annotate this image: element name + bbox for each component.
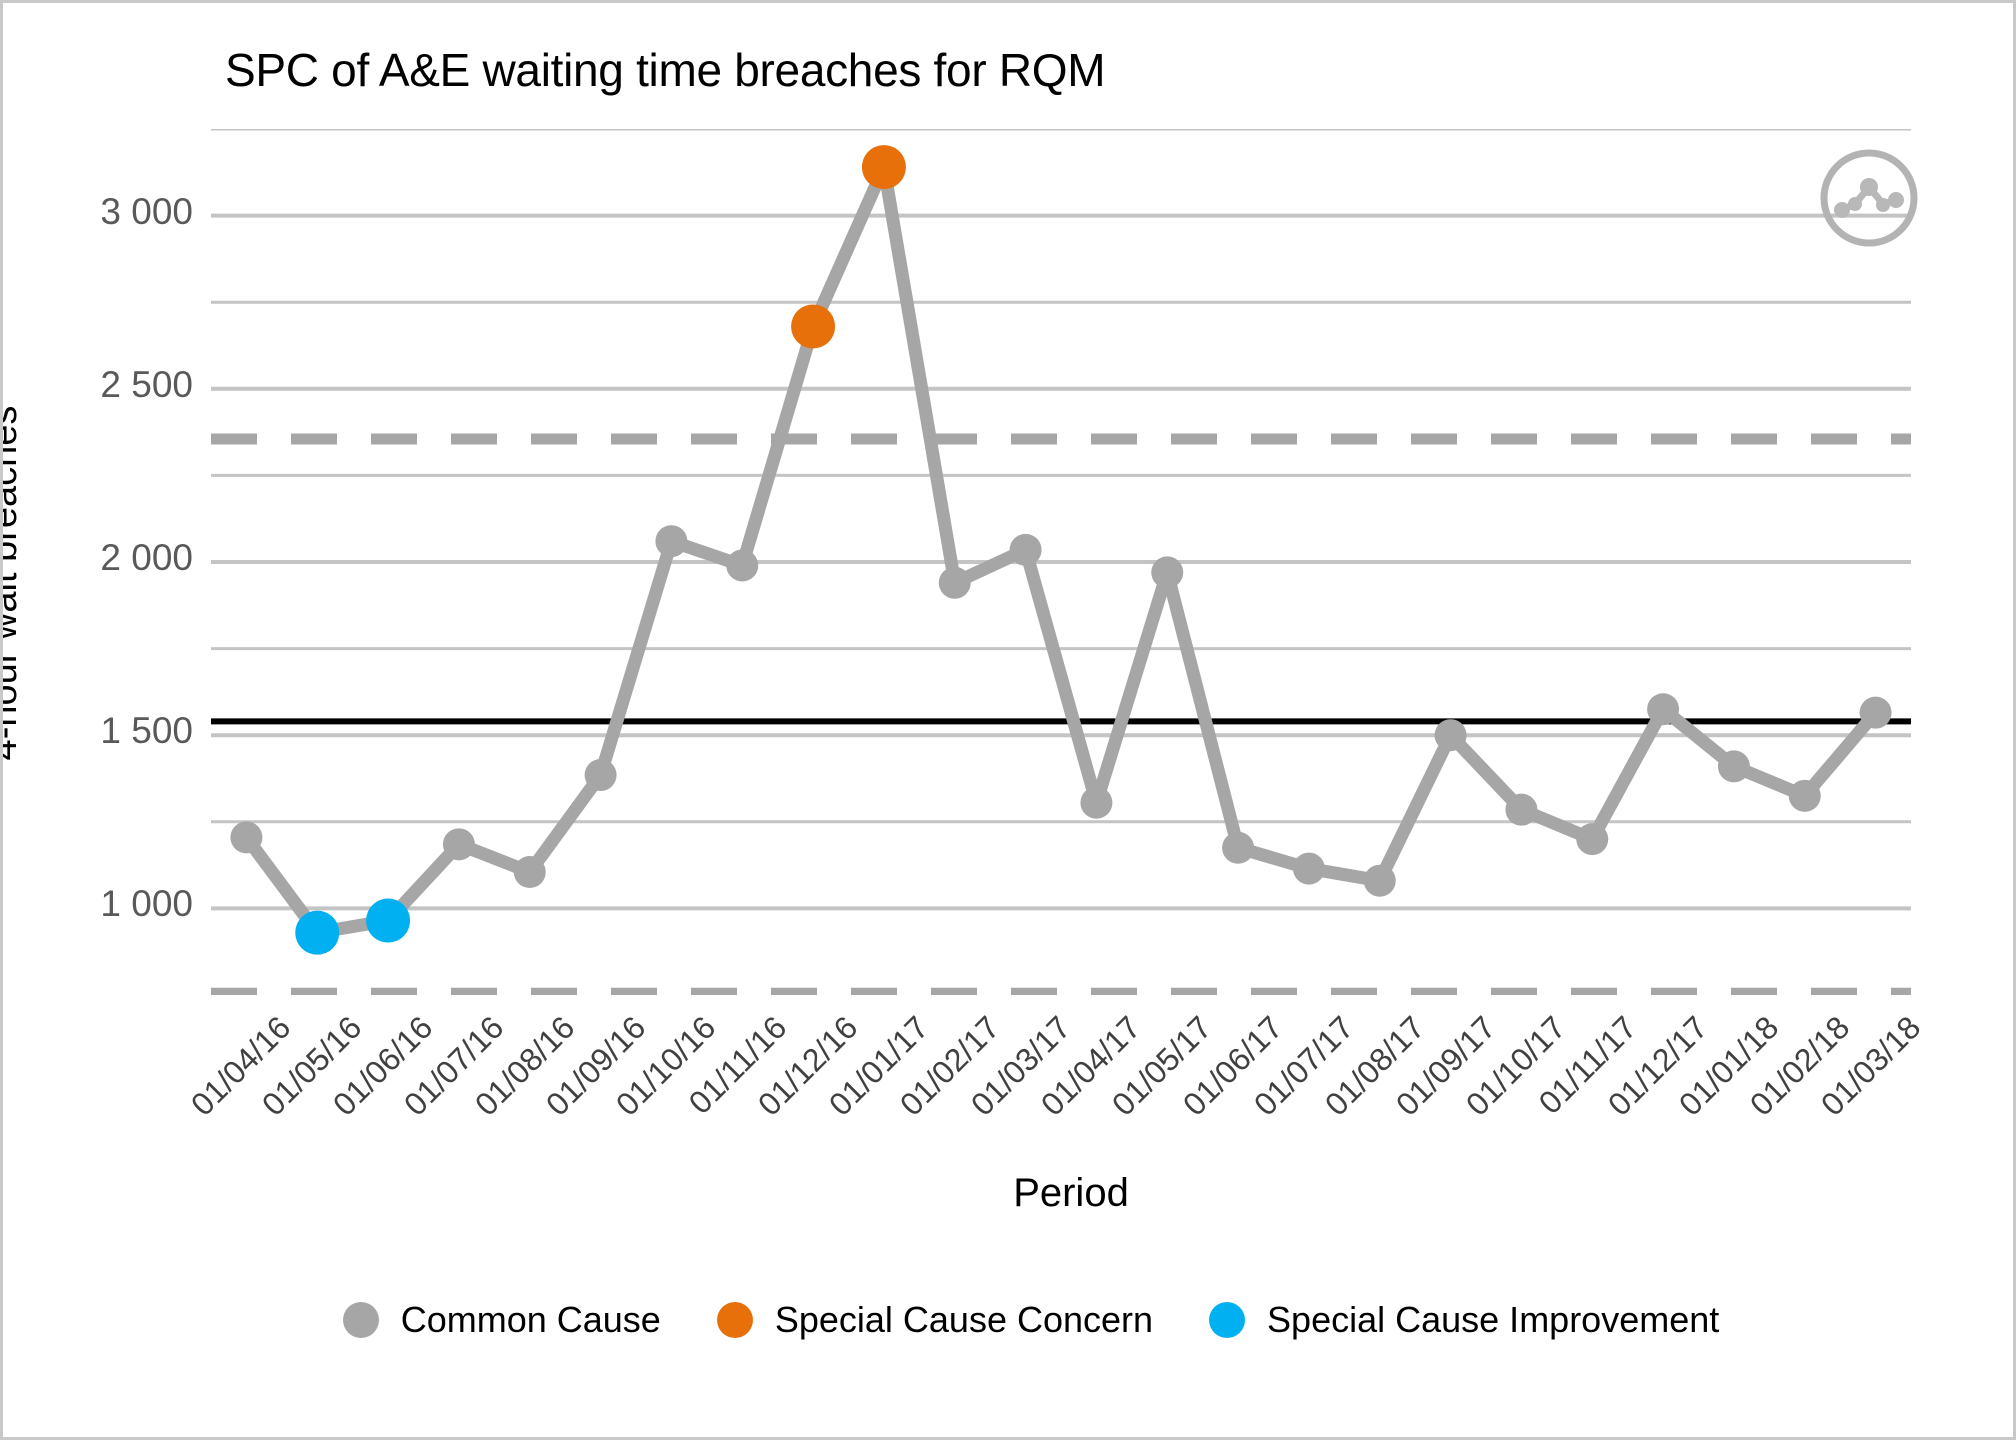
data-point-common[interactable]	[230, 821, 262, 853]
data-point-common[interactable]	[1364, 865, 1396, 897]
data-point-concern[interactable]	[862, 145, 906, 189]
data-point-concern[interactable]	[791, 304, 835, 348]
data-point-common[interactable]	[1505, 794, 1537, 826]
chart-legend: Common CauseSpecial Cause ConcernSpecial…	[3, 1299, 2016, 1341]
data-point-improvement[interactable]	[366, 899, 410, 943]
data-point-common[interactable]	[1293, 853, 1325, 885]
page-title: SPC of A&E waiting time breaches for RQM	[225, 43, 1105, 97]
legend-marker-icon	[717, 1302, 753, 1338]
data-point-common[interactable]	[443, 828, 475, 860]
data-point-improvement[interactable]	[295, 911, 339, 955]
legend-marker-icon	[1209, 1302, 1245, 1338]
data-point-common[interactable]	[514, 856, 546, 888]
y-tick-label: 1 000	[33, 883, 193, 925]
data-point-common[interactable]	[585, 759, 617, 791]
data-point-common[interactable]	[1718, 750, 1750, 782]
data-point-common[interactable]	[1222, 832, 1254, 864]
data-point-common[interactable]	[1647, 693, 1679, 725]
spc-line-chart	[211, 129, 1911, 995]
legend-item[interactable]: Special Cause Improvement	[1209, 1299, 1719, 1341]
data-point-common[interactable]	[939, 567, 971, 599]
data-point-common[interactable]	[1151, 556, 1183, 588]
data-point-common[interactable]	[726, 549, 758, 581]
data-point-common[interactable]	[1010, 534, 1042, 566]
data-point-common[interactable]	[1435, 719, 1467, 751]
legend-item[interactable]: Common Cause	[343, 1299, 661, 1341]
legend-label: Special Cause Concern	[775, 1299, 1153, 1341]
data-point-common[interactable]	[1789, 780, 1821, 812]
chart-page: SPC of A&E waiting time breaches for RQM…	[0, 0, 2016, 1440]
legend-marker-icon	[343, 1302, 379, 1338]
x-axis-title: Period	[3, 1171, 2016, 1216]
legend-label: Common Cause	[401, 1299, 661, 1341]
data-point-common[interactable]	[1576, 823, 1608, 855]
run-chart-badge-icon[interactable]	[1817, 146, 1921, 250]
legend-label: Special Cause Improvement	[1267, 1299, 1719, 1341]
legend-item[interactable]: Special Cause Concern	[717, 1299, 1153, 1341]
y-tick-label: 2 500	[33, 364, 193, 406]
plot-area	[211, 129, 1911, 995]
y-tick-label: 1 500	[33, 710, 193, 752]
data-point-common[interactable]	[1080, 787, 1112, 819]
data-point-common[interactable]	[655, 525, 687, 557]
series-line	[246, 167, 1875, 933]
data-point-common[interactable]	[1860, 697, 1892, 729]
x-axis-tick-labels: 01/04/1601/05/1601/06/1601/07/1601/08/16…	[211, 995, 1911, 1175]
y-tick-label: 2 000	[33, 537, 193, 579]
y-tick-label: 3 000	[33, 191, 193, 233]
y-axis-tick-labels: 1 0001 5002 0002 5003 000	[3, 129, 193, 995]
